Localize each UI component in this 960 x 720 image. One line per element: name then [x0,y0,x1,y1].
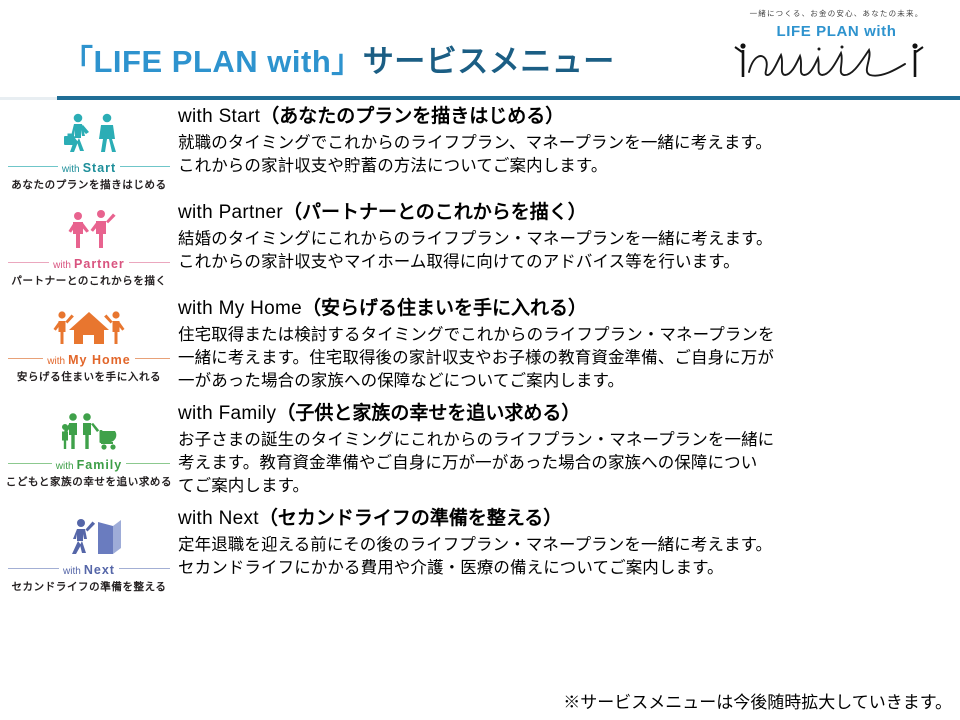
service-badge-subtitle: セカンドライフの準備を整える [0,579,178,594]
two-figures-holding-hands-icon [0,206,178,254]
service-badge-subtitle: 安らげる住まいを手に入れる [0,369,178,384]
service-badge-subtitle: こどもと家族の幸せを追い求める [0,474,178,489]
service-badge-label-start: with Start [0,159,178,174]
header-divider [0,95,960,101]
service-item-partner: with Partner パートナーとのこれからを描く with Partner… [0,200,960,288]
figure-walking-through-door-icon [0,512,178,560]
service-body-partner: with Partner（パートナーとのこれからを描く） 結婚のタイミングにこれ… [178,200,960,274]
service-heading-jp: （安らげる住まいを手に入れる） [302,298,587,319]
service-description-line: お子さまの誕生のタイミングにこれからのライフプラン・マネープランを一緒に [178,429,952,452]
service-heading-en: with Next [178,508,259,529]
header-divider-main [57,96,960,100]
service-body-family: with Family（子供と家族の幸せを追い求める） お子さまの誕生のタイミン… [178,401,960,498]
badge-name: Family [77,458,123,472]
badge-name: My Home [68,353,131,367]
badge-with-word: with [62,164,80,175]
badge-with-word: with [56,461,74,472]
service-description-line: これからの家計収支やマイホーム取得に向けてのアドバイス等を行います。 [178,251,952,274]
service-description-line: セカンドライフにかかる費用や介護・医療の備えについてご案内します。 [178,557,952,580]
service-menu-list: with Start あなたのプランを描きはじめる with Start（あなた… [0,104,960,594]
service-heading-en: with Partner [178,202,283,223]
service-badge-family: with Family こどもと家族の幸せを追い求める [0,401,178,489]
service-description: 就職のタイミングでこれからのライフプラン、マネープランを一緒に考えます。 これか… [178,132,952,178]
logo-tagline: 一緒につくる、お金の安心、あなたの未来。 [729,8,944,18]
service-description-line: 定年退職を迎える前にその後のライフプラン・マネープランを一緒に考えます。 [178,534,952,557]
service-description: 定年退職を迎える前にその後のライフプラン・マネープランを一緒に考えます。 セカン… [178,534,952,580]
service-badge-label-my-home: with My Home [0,351,178,366]
service-description-line: 一緒に考えます。住宅取得後の家計収支やお子様の教育資金準備、ご自身に万が [178,347,952,370]
service-description: 結婚のタイミングにこれからのライフプラン・マネープランを一緒に考えます。 これか… [178,228,952,274]
service-body-my-home: with My Home（安らげる住まいを手に入れる） 住宅取得または検討するタ… [178,296,960,393]
service-description-line: 結婚のタイミングにこれからのライフプラン・マネープランを一緒に考えます。 [178,228,952,251]
service-heading: with Start（あなたのプランを描きはじめる） [178,104,952,130]
service-heading-jp: （パートナーとのこれからを描く） [283,202,587,223]
service-heading-en: with My Home [178,298,302,319]
service-badge-start: with Start あなたのプランを描きはじめる [0,104,178,192]
service-item-my-home: with My Home 安らげる住まいを手に入れる with My Home（… [0,296,960,393]
service-badge-subtitle: あなたのプランを描きはじめる [0,177,178,192]
service-description-line: 就職のタイミングでこれからのライフプラン、マネープランを一緒に考えます。 [178,132,952,155]
service-heading-jp: （子供と家族の幸せを追い求める） [276,403,580,424]
service-badge-label-partner: with Partner [0,255,178,270]
service-badge-subtitle: パートナーとのこれからを描く [0,273,178,288]
service-badge-label-next: with Next [0,561,178,576]
logo-script-signature-icon [729,38,944,80]
badge-name: Start [83,161,116,175]
page-title-rest: サービスメニュー [363,44,615,79]
service-badge-label-family: with Family [0,456,178,471]
service-description-line: 考えます。教育資金準備やご自身に万が一があった場合の家族への保障につい [178,452,952,475]
badge-name: Partner [74,257,125,271]
service-badge-my-home: with My Home 安らげる住まいを手に入れる [0,296,178,384]
slide-header: 「LIFE PLAN with」サービスメニュー 一緒につくる、お金の安心、あな… [0,0,960,95]
service-description-line: 一があった場合の家族への保障などについてご案内します。 [178,370,952,393]
page-title: 「LIFE PLAN with」サービスメニュー [62,36,615,81]
badge-with-word: with [53,260,71,271]
service-item-start: with Start あなたのプランを描きはじめる with Start（あなた… [0,104,960,192]
service-heading: with Next（セカンドライフの準備を整える） [178,506,952,532]
service-body-next: with Next（セカンドライフの準備を整える） 定年退職を迎える前にその後の… [178,506,960,580]
two-walking-figures-with-briefcase-icon [0,110,178,158]
service-heading: with Partner（パートナーとのこれからを描く） [178,200,952,226]
house-with-two-figures-icon [0,302,178,350]
badge-with-word: with [63,566,81,577]
service-description-line: これからの家計収支や貯蓄の方法についてご案内します。 [178,155,952,178]
service-badge-next: with Next セカンドライフの準備を整える [0,506,178,594]
service-heading-en: with Start [178,106,260,127]
service-description: お子さまの誕生のタイミングにこれからのライフプラン・マネープランを一緒に 考えま… [178,429,952,498]
badge-with-word: with [47,356,65,367]
service-description-line: 住宅取得または検討するタイミングでこれからのライフプラン・マネープランを [178,324,952,347]
service-description-line: てご案内します。 [178,475,952,498]
service-item-family: with Family こどもと家族の幸せを追い求める with Family（… [0,401,960,498]
family-with-stroller-icon [0,407,178,455]
service-heading-jp: （セカンドライフの準備を整える） [259,508,562,529]
page-title-brand: 「LIFE PLAN with」 [62,44,363,79]
service-item-next: with Next セカンドライフの準備を整える with Next（セカンドラ… [0,506,960,594]
header-divider-light [0,97,60,100]
service-heading: with Family（子供と家族の幸せを追い求める） [178,401,952,427]
service-badge-partner: with Partner パートナーとのこれからを描く [0,200,178,288]
service-heading: with My Home（安らげる住まいを手に入れる） [178,296,952,322]
brand-logo: 一緒につくる、お金の安心、あなたの未来。 LIFE PLAN with [729,8,944,80]
badge-name: Next [84,563,115,577]
service-heading-en: with Family [178,403,276,424]
service-heading-jp: （あなたのプランを描きはじめる） [260,106,564,127]
footnote: ※サービスメニューは今後随時拡大していきます。 [563,692,952,714]
service-description: 住宅取得または検討するタイミングでこれからのライフプラン・マネープランを 一緒に… [178,324,952,393]
service-body-start: with Start（あなたのプランを描きはじめる） 就職のタイミングでこれから… [178,104,960,178]
